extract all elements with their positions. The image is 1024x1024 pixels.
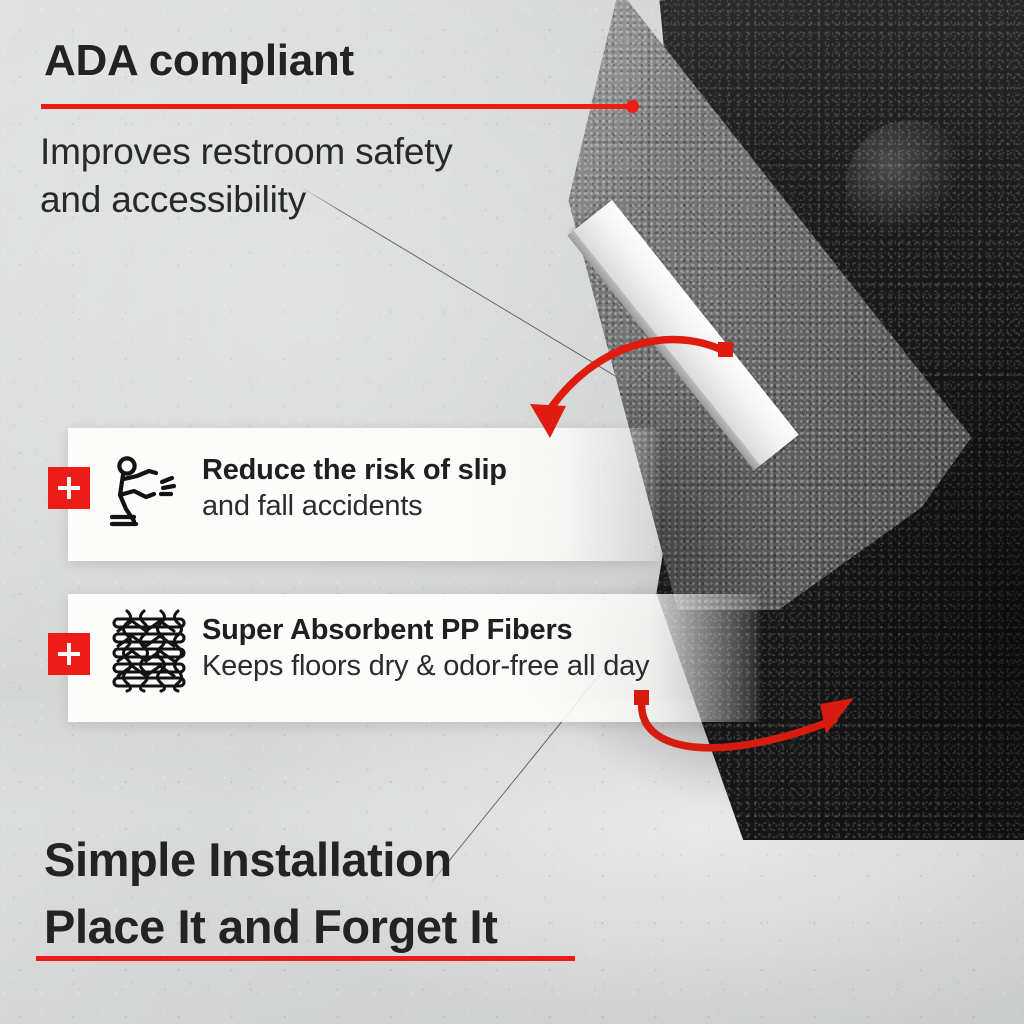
page-title-bottom: Simple Installation Place It and Forget … xyxy=(44,826,497,960)
plus-icon xyxy=(48,467,90,509)
feature-text-fibers: Super Absorbent PP Fibers Keeps floors d… xyxy=(202,612,649,686)
page-title-top: ADA compliant xyxy=(44,38,354,84)
feature-text-slip: Reduce the risk of slip and fall acciden… xyxy=(202,452,507,526)
subhead-top-line-2: and accessibility xyxy=(40,176,453,224)
feature-title-fibers: Super Absorbent PP Fibers xyxy=(202,612,649,648)
infographic-canvas: ADA compliant Improves restroom safety a… xyxy=(0,0,1024,1024)
accent-rule-bottom xyxy=(36,956,575,961)
feature-subtitle-slip: and fall accidents xyxy=(202,488,507,526)
subhead-top: Improves restroom safety and accessibili… xyxy=(40,128,453,224)
headline-bottom-line-1: Simple Installation xyxy=(44,826,497,893)
person-slipping-icon xyxy=(104,453,186,535)
accent-rule-top xyxy=(41,104,633,109)
headline-bottom-line-2: Place It and Forget It xyxy=(44,893,497,960)
subhead-top-line-1: Improves restroom safety xyxy=(40,128,453,176)
feature-title-slip: Reduce the risk of slip xyxy=(202,452,507,488)
leader-line-dot-icon xyxy=(626,100,639,113)
feature-subtitle-fibers: Keeps floors dry & odor-free all day xyxy=(202,648,649,686)
plus-icon xyxy=(48,633,90,675)
curved-arrow-icon xyxy=(500,320,780,460)
woven-fabric-icon xyxy=(106,605,192,693)
curved-arrow-icon xyxy=(600,686,880,810)
